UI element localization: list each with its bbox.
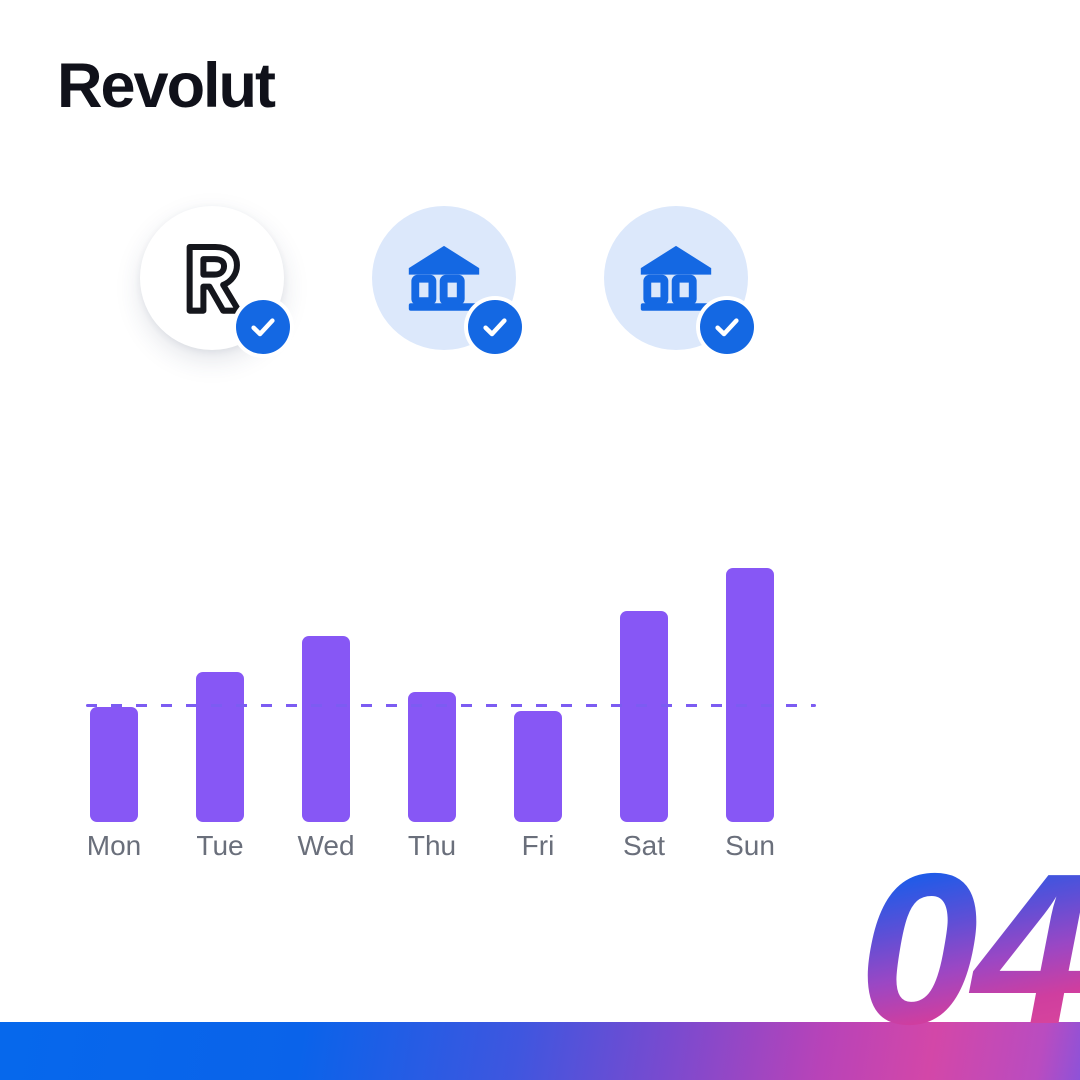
chart-x-label: Sun [705, 832, 795, 860]
chart-bar[interactable] [90, 707, 138, 822]
chart-bar-column[interactable] [192, 540, 248, 822]
chart-bar-column[interactable] [616, 540, 672, 822]
chart-bar-column[interactable] [86, 540, 142, 822]
brand-wordmark: Revolut [57, 55, 274, 118]
chart-x-label: Tue [175, 832, 265, 860]
account-badge-revolut[interactable] [140, 206, 284, 350]
verified-accounts-row [0, 206, 1080, 392]
verified-check-circle [236, 300, 290, 354]
chart-bar[interactable] [726, 568, 774, 822]
chart-x-label: Mon [69, 832, 159, 860]
verified-check-badge [232, 296, 294, 358]
check-icon [480, 312, 510, 342]
chart-bar[interactable] [196, 672, 244, 822]
chart-x-label: Wed [281, 832, 371, 860]
chart-x-label: Thu [387, 832, 477, 860]
check-icon [248, 312, 278, 342]
chart-bar-column[interactable] [404, 540, 460, 822]
chart-bar[interactable] [620, 611, 668, 822]
verified-check-circle [468, 300, 522, 354]
slide-number: 04 [859, 841, 1080, 1056]
slide-canvas: Revolut [0, 0, 1080, 1080]
chart-bar[interactable] [514, 711, 562, 822]
chart-x-axis-labels: MonTueWedThuFriSatSun [86, 832, 826, 876]
account-badge-bank-1[interactable] [372, 206, 516, 350]
chart-x-label: Fri [493, 832, 583, 860]
chart-bar-column[interactable] [722, 540, 778, 822]
chart-bar-column[interactable] [510, 540, 566, 822]
verified-check-badge [696, 296, 758, 358]
chart-bar-column[interactable] [298, 540, 354, 822]
verified-check-badge [464, 296, 526, 358]
chart-bar[interactable] [302, 636, 350, 822]
account-badge-bank-2[interactable] [604, 206, 748, 350]
verified-check-circle [700, 300, 754, 354]
chart-x-label: Sat [599, 832, 689, 860]
chart-bars [86, 540, 826, 822]
check-icon [712, 312, 742, 342]
chart-bar[interactable] [408, 692, 456, 822]
